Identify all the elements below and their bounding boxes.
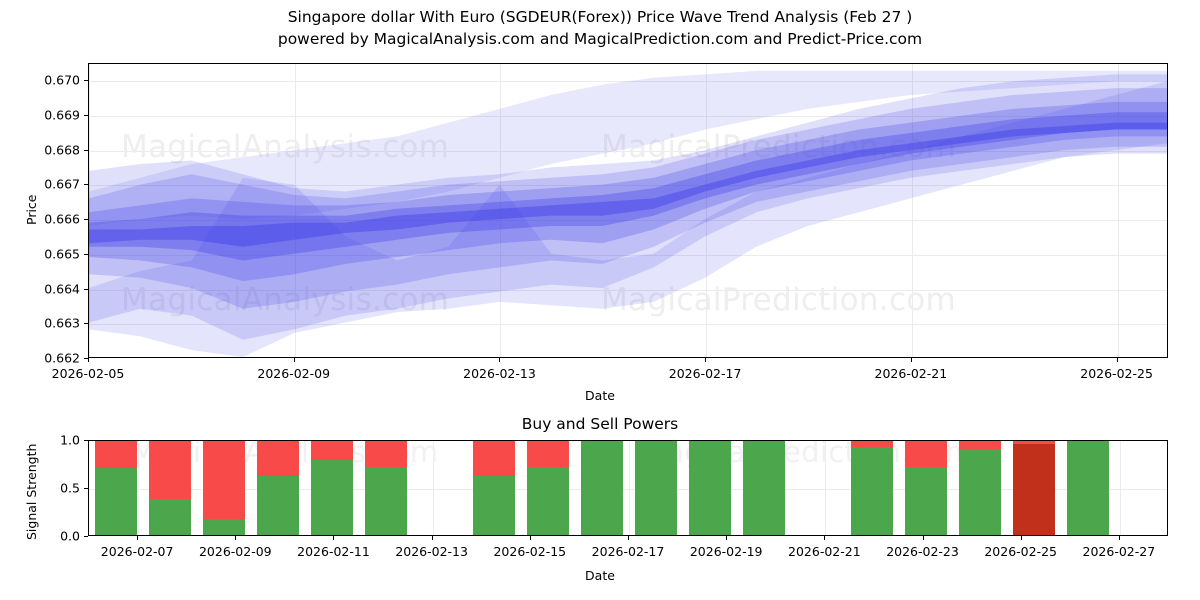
signal-bar[interactable] — [203, 440, 245, 535]
gridline-v — [138, 441, 139, 535]
x-tickmark — [88, 358, 89, 362]
main-y-axis-label: Price — [24, 195, 39, 226]
signal-bar[interactable] — [149, 440, 191, 535]
sell-segment — [149, 440, 191, 499]
y-tick-label: 0.669 — [44, 108, 80, 123]
x-tickmark — [628, 536, 629, 540]
gridline-v — [629, 441, 630, 535]
signal-bar[interactable] — [257, 440, 299, 535]
x-tickmark — [923, 536, 924, 540]
x-tick-label: 2026-02-25 — [1080, 366, 1153, 381]
buy-segment — [527, 467, 569, 535]
x-tick-label: 2026-02-17 — [592, 544, 665, 559]
y-tick-label: 0.668 — [44, 142, 80, 157]
x-tickmark — [726, 536, 727, 540]
sell-segment — [257, 440, 299, 476]
main-x-axis-label: Date — [0, 388, 1200, 403]
x-tick-label: 2026-02-11 — [297, 544, 370, 559]
signal-bar[interactable] — [311, 440, 353, 535]
sell-segment — [365, 440, 407, 467]
buy-segment — [959, 449, 1001, 535]
signal-bar[interactable] — [365, 440, 407, 535]
y-tickmark — [84, 536, 88, 537]
buy-segment — [635, 440, 677, 535]
x-tick-label: 2026-02-21 — [875, 366, 948, 381]
buy-segment — [257, 476, 299, 535]
y-tick-label: 0.665 — [44, 246, 80, 261]
signal-bar[interactable] — [689, 440, 731, 535]
sell-segment — [959, 440, 1001, 449]
signal-bar[interactable] — [473, 440, 515, 535]
sell-segment — [1013, 440, 1055, 444]
y-tick-label: 1.0 — [60, 433, 80, 448]
y-tick-label: 0.667 — [44, 177, 80, 192]
signal-bar[interactable] — [635, 440, 677, 535]
signal-bar[interactable] — [581, 440, 623, 535]
buy-segment — [149, 499, 191, 535]
x-tick-label: 2026-02-05 — [52, 366, 125, 381]
y-tick-label: 0.670 — [44, 73, 80, 88]
x-tick-label: 2026-02-09 — [257, 366, 330, 381]
strong-sell-segment — [1013, 440, 1055, 535]
x-tick-label: 2026-02-13 — [463, 366, 536, 381]
y-tick-label: 0.662 — [44, 351, 80, 366]
x-tick-label: 2026-02-09 — [199, 544, 272, 559]
x-tick-label: 2026-02-07 — [101, 544, 174, 559]
bars-x-axis-label: Date — [0, 568, 1200, 583]
price-wave-bands — [89, 64, 1167, 357]
sell-segment — [527, 440, 569, 467]
sell-segment — [905, 440, 947, 467]
x-tickmark — [705, 358, 706, 362]
x-tick-label: 2026-02-19 — [690, 544, 763, 559]
y-tick-label: 0.663 — [44, 316, 80, 331]
buy-segment — [905, 467, 947, 535]
x-tick-label: 2026-02-27 — [1083, 544, 1156, 559]
buy-segment — [581, 441, 623, 535]
buy-segment — [689, 440, 731, 535]
x-tickmark — [499, 358, 500, 362]
sell-segment — [311, 440, 353, 460]
x-tickmark — [1021, 536, 1022, 540]
buy-segment — [203, 519, 245, 535]
buy-segment — [365, 467, 407, 535]
chart-page: Singapore dollar With Euro (SGDEUR(Forex… — [0, 0, 1200, 600]
x-tick-label: 2026-02-15 — [493, 544, 566, 559]
x-tick-label: 2026-02-25 — [984, 544, 1057, 559]
gridline-h — [89, 489, 1167, 490]
x-tick-label: 2026-02-17 — [669, 366, 742, 381]
gridline-v — [825, 441, 826, 535]
buy-segment — [1067, 440, 1109, 535]
x-tickmark — [333, 536, 334, 540]
signal-bar[interactable] — [95, 440, 137, 535]
x-tickmark — [530, 536, 531, 540]
x-tickmark — [911, 358, 912, 362]
gridline-v — [1120, 441, 1121, 535]
signal-bar[interactable] — [905, 440, 947, 535]
sell-segment — [581, 440, 623, 441]
signal-bar[interactable] — [1013, 440, 1055, 535]
y-tick-label: 0.664 — [44, 281, 80, 296]
sell-segment — [203, 440, 245, 519]
y-tick-label: 0.5 — [60, 481, 80, 496]
x-tickmark — [824, 536, 825, 540]
y-tick-label: 0.0 — [60, 529, 80, 544]
x-tick-label: 2026-02-21 — [788, 544, 861, 559]
signal-bar[interactable] — [743, 440, 785, 535]
y-tick-label: 0.666 — [44, 212, 80, 227]
x-tickmark — [1117, 358, 1118, 362]
sell-segment — [473, 440, 515, 476]
bar-chart-title: Buy and Sell Powers — [0, 415, 1200, 433]
signal-bar[interactable] — [851, 440, 893, 535]
x-tick-label: 2026-02-13 — [395, 544, 468, 559]
buy-segment — [473, 476, 515, 535]
x-tickmark — [1119, 536, 1120, 540]
x-tickmark — [235, 536, 236, 540]
chart-title-block: Singapore dollar With Euro (SGDEUR(Forex… — [0, 6, 1200, 50]
buy-segment — [311, 460, 353, 535]
x-tickmark — [294, 358, 295, 362]
buy-segment — [851, 447, 893, 535]
x-tick-label: 2026-02-23 — [886, 544, 959, 559]
sell-segment — [95, 440, 137, 468]
signal-bar[interactable] — [527, 440, 569, 535]
buy-sell-powers-plot: MagicalAnalysis.comMagicalPrediction.com — [88, 440, 1168, 536]
x-tickmark — [432, 536, 433, 540]
signal-bar[interactable] — [959, 440, 1001, 535]
bars-y-axis-label: Signal Strength — [24, 444, 39, 540]
price-wave-plot: MagicalAnalysis.comMagicalPrediction.com… — [88, 63, 1168, 358]
x-tickmark — [137, 536, 138, 540]
sell-segment — [851, 440, 893, 447]
buy-segment — [743, 440, 785, 535]
gridline-v — [433, 441, 434, 535]
signal-bar[interactable] — [1067, 440, 1109, 535]
page-subtitle: powered by MagicalAnalysis.com and Magic… — [0, 28, 1200, 50]
page-title: Singapore dollar With Euro (SGDEUR(Forex… — [0, 6, 1200, 28]
buy-segment — [95, 468, 137, 535]
